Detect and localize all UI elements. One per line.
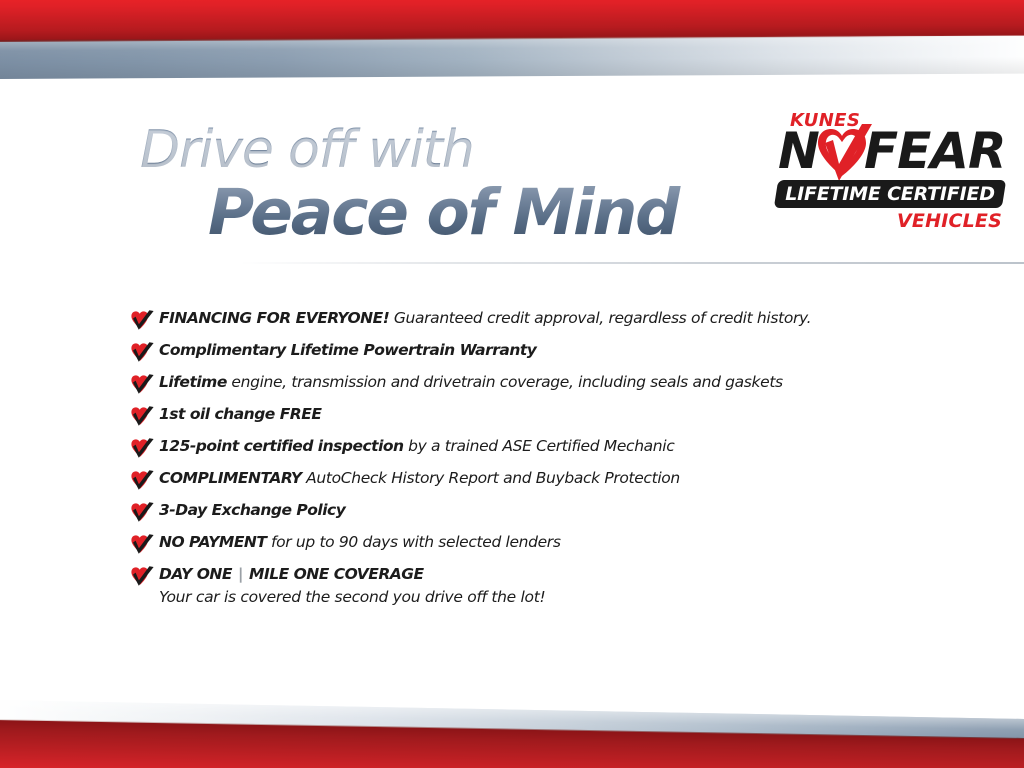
feature-item: DAY ONE | MILE ONE COVERAGEYour car is c…	[130, 564, 940, 612]
feature-item-bold: COMPLIMENTARY	[159, 469, 302, 487]
top-gray-band	[0, 36, 1024, 79]
feature-item-text: 1st oil change FREE	[159, 404, 321, 425]
feature-item-bold: 3-Day Exchange Policy	[159, 501, 345, 519]
feature-item-body: 3-Day Exchange Policy	[159, 500, 345, 521]
header-divider-line	[240, 262, 1024, 264]
kunes-no-fear-logo: KUNES N FEAR LIFETIME CERTIFIED VEHICLES	[776, 110, 1012, 246]
feature-item-bold-post: MILE ONE COVERAGE	[244, 565, 423, 583]
feature-item-body: 125-point certified inspection by a trai…	[159, 436, 674, 457]
logo-word-fear: FEAR	[864, 126, 1006, 176]
top-gray-band-sheen	[0, 36, 1024, 79]
feature-item-rest: AutoCheck History Report and Buyback Pro…	[302, 469, 680, 487]
feature-item-text: 125-point certified inspection by a trai…	[159, 436, 674, 457]
feature-item-body: DAY ONE | MILE ONE COVERAGEYour car is c…	[159, 564, 545, 608]
heart-check-bullet-icon	[130, 566, 154, 588]
feature-item-bold: NO PAYMENT	[159, 533, 266, 551]
logo-vehicles-text: VEHICLES	[776, 210, 1002, 232]
logo-nofear-wordmark: N FEAR	[778, 128, 1012, 178]
feature-item: Complimentary Lifetime Powertrain Warran…	[130, 340, 940, 372]
feature-item-text: FINANCING FOR EVERYONE! Guaranteed credi…	[159, 308, 811, 329]
feature-item-body: FINANCING FOR EVERYONE! Guaranteed credi…	[159, 308, 811, 329]
logo-certified-banner-text: LIFETIME CERTIFIED	[776, 180, 1004, 208]
feature-item-text: 3-Day Exchange Policy	[159, 500, 345, 521]
feature-item-body: COMPLIMENTARY AutoCheck History Report a…	[159, 468, 680, 489]
promo-banner-page: Drive off with Peace of Mind KUNES N FEA…	[0, 0, 1024, 768]
feature-item-bold: Lifetime	[159, 373, 227, 391]
heart-check-bullet-icon	[130, 310, 154, 332]
feature-item-rest: engine, transmission and drivetrain cove…	[227, 373, 783, 391]
top-decorative-bands	[0, 0, 1024, 86]
feature-item-bold: 1st oil change FREE	[159, 405, 321, 423]
feature-item-rest: Guaranteed credit approval, regardless o…	[389, 309, 811, 327]
heart-check-bullet-icon	[130, 342, 154, 364]
heart-check-bullet-icon	[130, 470, 154, 492]
heart-check-bullet-icon	[130, 406, 154, 428]
feature-item: COMPLIMENTARY AutoCheck History Report a…	[130, 468, 940, 500]
feature-item-text: Lifetime engine, transmission and drivet…	[159, 372, 783, 393]
feature-item-text: DAY ONE | MILE ONE COVERAGE	[159, 564, 545, 585]
feature-item-text: NO PAYMENT for up to 90 days with select…	[159, 532, 561, 553]
feature-item-text: COMPLIMENTARY AutoCheck History Report a…	[159, 468, 680, 489]
feature-item-bold: Complimentary Lifetime Powertrain Warran…	[159, 341, 536, 359]
feature-item-body: 1st oil change FREE	[159, 404, 321, 425]
headline-line-1: Drive off with	[140, 122, 760, 178]
feature-item: 3-Day Exchange Policy	[130, 500, 940, 532]
heart-check-bullet-icon	[130, 502, 154, 524]
heart-check-bullet-icon	[130, 534, 154, 556]
feature-item-body: Lifetime engine, transmission and drivet…	[159, 372, 783, 393]
feature-item-bold: FINANCING FOR EVERYONE!	[159, 309, 389, 327]
feature-item-text: Complimentary Lifetime Powertrain Warran…	[159, 340, 536, 361]
feature-item-body: Complimentary Lifetime Powertrain Warran…	[159, 340, 536, 361]
feature-item-body: NO PAYMENT for up to 90 days with select…	[159, 532, 561, 553]
feature-item-rest: for up to 90 days with selected lenders	[266, 533, 560, 551]
headline-line-2: Peace of Mind	[208, 180, 760, 246]
feature-item-bold: 125-point certified inspection	[159, 437, 404, 455]
feature-item: 125-point certified inspection by a trai…	[130, 436, 940, 468]
feature-item-rest: by a trained ASE Certified Mechanic	[404, 437, 675, 455]
heart-checkmark-icon	[812, 124, 874, 184]
feature-item: Lifetime engine, transmission and drivet…	[130, 372, 940, 404]
heart-check-bullet-icon	[130, 438, 154, 460]
feature-item-bold-pre: DAY ONE	[159, 565, 237, 583]
heart-check-bullet-icon	[130, 374, 154, 396]
bottom-decorative-bands	[0, 684, 1024, 768]
feature-item-subtext: Your car is covered the second you drive…	[159, 587, 545, 608]
feature-list: FINANCING FOR EVERYONE! Guaranteed credi…	[130, 308, 940, 612]
headline-block: Drive off with Peace of Mind	[140, 122, 760, 246]
feature-item: 1st oil change FREE	[130, 404, 940, 436]
feature-item: NO PAYMENT for up to 90 days with select…	[130, 532, 940, 564]
feature-item: FINANCING FOR EVERYONE! Guaranteed credi…	[130, 308, 940, 340]
